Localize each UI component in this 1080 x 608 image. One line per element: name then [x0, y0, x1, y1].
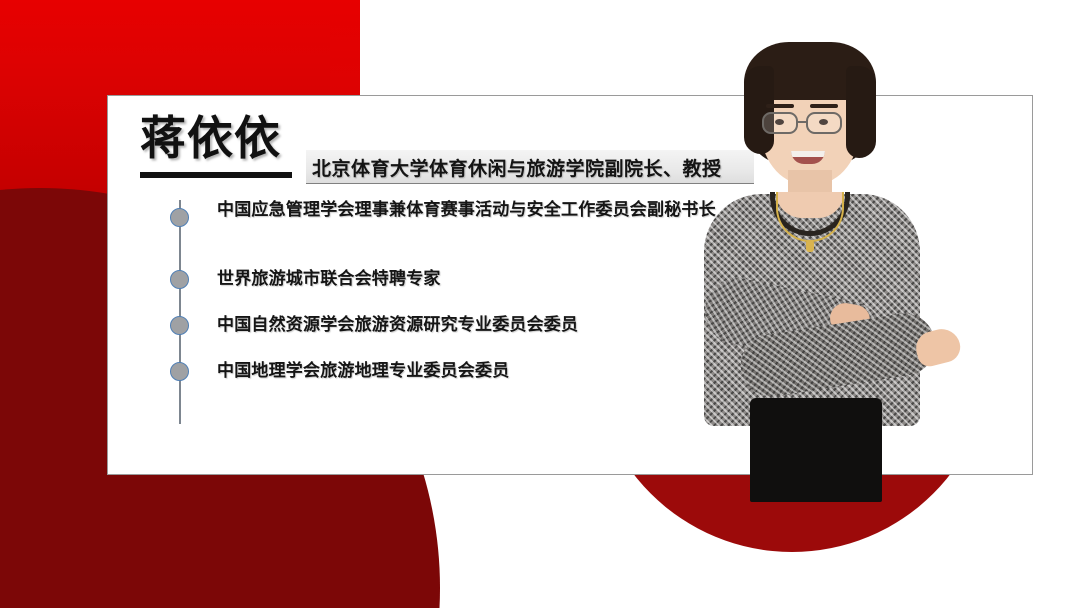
necklace-pendant-icon: [806, 240, 814, 252]
name-underline-rule: [140, 172, 292, 178]
speaker-name: 蒋依依: [140, 110, 281, 166]
portrait-hair-right: [846, 66, 876, 158]
credentials-timeline: 中国应急管理学会理事兼体育赛事活动与安全工作委员会副秘书长 世界旅游城市联合会特…: [165, 200, 725, 424]
portrait-skirt: [750, 398, 882, 502]
portrait-teeth: [791, 151, 825, 157]
credential-text: 中国地理学会旅游地理专业委员会委员: [217, 361, 717, 382]
glasses-bridge: [798, 121, 808, 123]
glasses-icon: [806, 112, 842, 134]
timeline-dot-icon: [170, 362, 189, 381]
slide-canvas: 蒋依依 北京体育大学体育休闲与旅游学院副院长、教授 中国应急管理学会理事兼体育赛…: [0, 0, 1080, 608]
credential-text: 世界旅游城市联合会特聘专家: [217, 269, 717, 290]
timeline-dot-icon: [170, 208, 189, 227]
speaker-portrait: [648, 42, 968, 502]
timeline-rail: [179, 200, 181, 424]
glasses-icon: [762, 112, 798, 134]
timeline-dot-icon: [170, 316, 189, 335]
credential-text: 中国应急管理学会理事兼体育赛事活动与安全工作委员会副秘书长: [217, 200, 717, 221]
timeline-dot-icon: [170, 270, 189, 289]
credential-text: 中国自然资源学会旅游资源研究专业委员会委员: [217, 315, 717, 336]
portrait-eyebrow-left: [766, 104, 794, 108]
portrait-hair-left: [744, 66, 774, 154]
portrait-eyebrow-right: [810, 104, 838, 108]
